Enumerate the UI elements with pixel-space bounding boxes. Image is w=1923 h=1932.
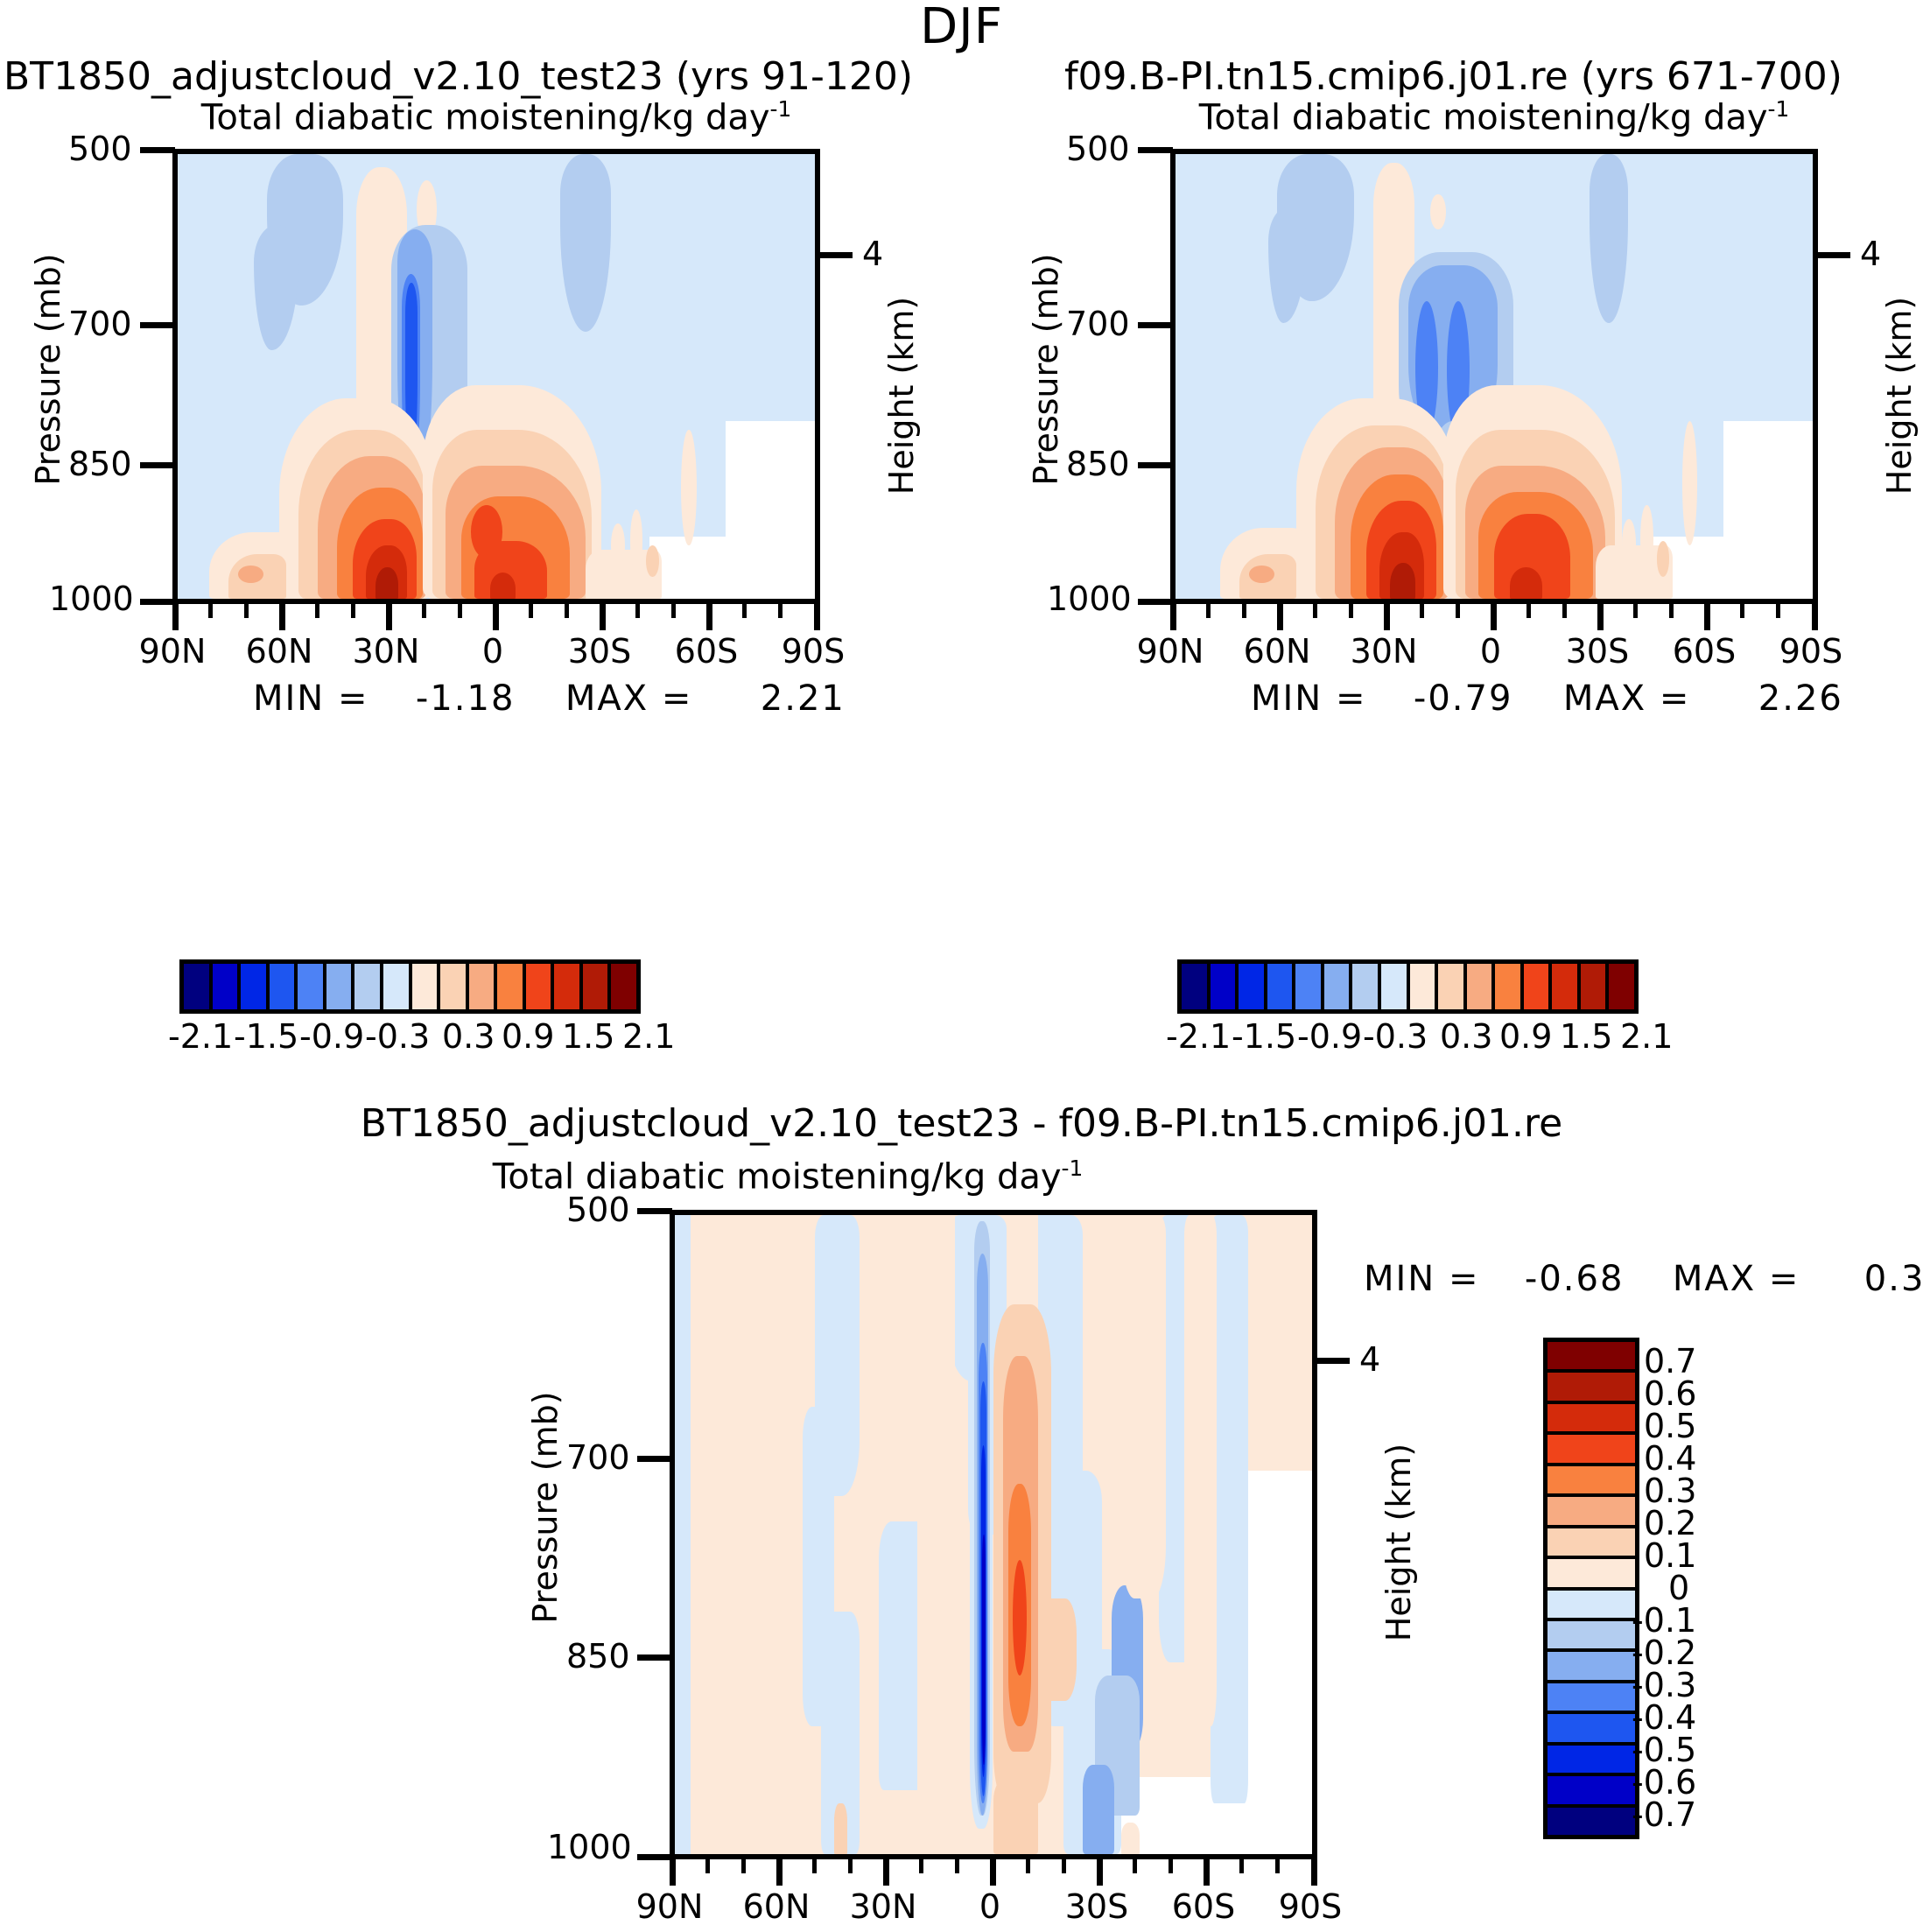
colorbar-swatch-2 bbox=[241, 964, 270, 1009]
cb-tr-t2: -0.9 bbox=[1297, 1017, 1362, 1056]
top-left-xaxis-ticks bbox=[172, 604, 820, 634]
colorbar-swatch-0 bbox=[1182, 964, 1211, 1009]
bottom-ytick-1000: 1000 bbox=[547, 1828, 632, 1866]
cb-tl-t7: 2.1 bbox=[622, 1017, 675, 1056]
colorbar-swatch-9 bbox=[1548, 1621, 1635, 1652]
bottom-minmax: MIN = -0.68 MAX = 0.32 bbox=[1364, 1259, 1923, 1299]
colorbar-swatch-10 bbox=[1467, 964, 1496, 1009]
colorbar-swatch-11 bbox=[1495, 964, 1524, 1009]
colorbar-swatch-6 bbox=[1548, 1528, 1635, 1559]
colorbar-swatch-2 bbox=[1239, 964, 1267, 1009]
top-left-ytick-500: 500 bbox=[68, 130, 132, 168]
colorbar-swatch-12 bbox=[526, 964, 555, 1009]
colorbar-swatch-6 bbox=[1352, 964, 1381, 1009]
bottom-contour-field bbox=[675, 1215, 1312, 1854]
top-right-min-label: MIN = bbox=[1251, 678, 1366, 719]
bottom-xtick-60S: 60S bbox=[1151, 1887, 1256, 1926]
units-exponent: -1 bbox=[1062, 1156, 1084, 1181]
colorbar-swatch-4 bbox=[1295, 964, 1324, 1009]
units-exponent: -1 bbox=[1768, 96, 1790, 122]
colorbar-swatch-1 bbox=[213, 964, 242, 1009]
bottom-ytick-mark-850 bbox=[637, 1654, 672, 1661]
bottom-xtick-60N: 60N bbox=[724, 1887, 829, 1926]
top-right-units-label: Total diabatic moistening/kg day-1 bbox=[1170, 96, 1818, 137]
top-right-xtick-60S: 60S bbox=[1652, 632, 1757, 671]
colorbar-swatch-11 bbox=[1548, 1683, 1635, 1714]
colorbar-swatch-6 bbox=[354, 964, 383, 1009]
bottom-xtick-0: 0 bbox=[937, 1887, 1042, 1926]
top-left-minmax: MIN = -1.18 MAX = 2.21 bbox=[253, 678, 846, 719]
figure-season-title: DJF bbox=[0, 0, 1923, 55]
top-left-units-label: Total diabatic moistening/kg day-1 bbox=[172, 96, 820, 137]
bottom-ytick-mark-1000 bbox=[637, 1854, 672, 1860]
top-right-min-value: -0.79 bbox=[1414, 678, 1513, 719]
colorbar-swatch-0 bbox=[1548, 1342, 1635, 1373]
top-left-ytick-mark-1000 bbox=[140, 599, 175, 605]
top-right-y-axis-label: Pressure (mb) bbox=[915, 350, 1177, 389]
colorbar-swatch-12 bbox=[1548, 1714, 1635, 1745]
top-right-contour-field bbox=[1176, 154, 1813, 599]
colorbar-swatch-8 bbox=[412, 964, 441, 1009]
top-right-y2-axis-label: Height (km) bbox=[1768, 376, 1923, 415]
bottom-ytick-500: 500 bbox=[566, 1191, 630, 1229]
top-right-max-value: 2.26 bbox=[1758, 678, 1843, 719]
top-left-xtick-90S: 90S bbox=[761, 632, 866, 671]
colorbar-swatch-15 bbox=[1609, 964, 1634, 1009]
top-right-ytick-mark-700 bbox=[1138, 322, 1173, 328]
cb-tr-t5: 0.9 bbox=[1499, 1017, 1552, 1056]
colorbar-swatch-5 bbox=[1548, 1497, 1635, 1528]
cb-tl-t6: 1.5 bbox=[562, 1017, 614, 1056]
colorbar-swatch-2 bbox=[1548, 1404, 1635, 1435]
top-left-xtick-60S: 60S bbox=[654, 632, 759, 671]
top-right-plot-frame bbox=[1170, 149, 1818, 604]
top-right-minmax: MIN = -0.79 MAX = 2.26 bbox=[1251, 678, 1843, 719]
bottom-max-value: 0.32 bbox=[1864, 1259, 1923, 1299]
top-left-y-axis-label: Pressure (mb) bbox=[0, 350, 179, 389]
top-right-ytick-1000: 1000 bbox=[1047, 580, 1132, 618]
top-right-ytick-mark-500 bbox=[1138, 147, 1173, 153]
colorbar-swatch-7 bbox=[1381, 964, 1410, 1009]
top-left-xtick-30S: 30S bbox=[547, 632, 652, 671]
colorbar-swatch-4 bbox=[298, 964, 326, 1009]
top-left-min-label: MIN = bbox=[253, 678, 368, 719]
top-left-plot-frame bbox=[172, 149, 820, 604]
bottom-y-axis-label: Pressure (mb) bbox=[414, 1488, 677, 1527]
top-right-ytick-mark-1000 bbox=[1138, 599, 1173, 605]
bottom-units-label: Total diabatic moistening/kg day-1 bbox=[350, 1156, 1225, 1197]
bottom-xtick-30S: 30S bbox=[1044, 1887, 1149, 1926]
top-right-xtick-90S: 90S bbox=[1758, 632, 1863, 671]
top-left-ytick-1000: 1000 bbox=[49, 580, 134, 618]
colorbar-swatch-0 bbox=[184, 964, 213, 1009]
cb-tr-t7: 2.1 bbox=[1620, 1017, 1673, 1056]
colorbar-swatch-9 bbox=[440, 964, 469, 1009]
bottom-y2tick-mark-4 bbox=[1315, 1358, 1350, 1364]
colorbar-swatch-5 bbox=[326, 964, 355, 1009]
cb-tr-t3: -0.3 bbox=[1363, 1017, 1428, 1056]
colorbar-swatch-10 bbox=[469, 964, 498, 1009]
top-right-xtick-30S: 30S bbox=[1545, 632, 1650, 671]
top-right-max-label: MAX = bbox=[1563, 678, 1691, 719]
top-right-ytick-850: 850 bbox=[1066, 445, 1130, 483]
colorbar-swatch-1 bbox=[1548, 1373, 1635, 1403]
top-left-xtick-30N: 30N bbox=[333, 632, 439, 671]
colorbar-swatch-15 bbox=[611, 964, 636, 1009]
bottom-ytick-mark-500 bbox=[637, 1208, 672, 1214]
top-left-y2tick-mark-4 bbox=[818, 252, 853, 258]
top-left-xtick-60N: 60N bbox=[227, 632, 332, 671]
bottom-ytick-mark-700 bbox=[637, 1456, 672, 1462]
colorbar-swatch-13 bbox=[554, 964, 583, 1009]
colorbar-swatch-8 bbox=[1548, 1591, 1635, 1621]
top-left-contour-field bbox=[178, 154, 815, 599]
top-right-xtick-90N: 90N bbox=[1118, 632, 1223, 671]
bottom-colorbar-ticklabels: 0.7 0.6 0.5 0.4 0.3 0.2 0.1 0 -0.1 -0.2 … bbox=[1644, 1338, 1819, 1830]
bottom-min-value: -0.68 bbox=[1525, 1259, 1625, 1299]
bottom-xtick-90N: 90N bbox=[617, 1887, 722, 1926]
colorbar-swatch-3 bbox=[270, 964, 298, 1009]
colorbar-swatch-12 bbox=[1524, 964, 1553, 1009]
bottom-plot-frame bbox=[670, 1210, 1317, 1859]
top-left-min-value: -1.18 bbox=[416, 678, 516, 719]
top-left-ytick-mark-500 bbox=[140, 147, 175, 153]
top-left-max-label: MAX = bbox=[565, 678, 693, 719]
bottom-xtick-30N: 30N bbox=[831, 1887, 936, 1926]
colorbar-swatch-4 bbox=[1548, 1466, 1635, 1497]
cb-tl-t0: -2.1 bbox=[168, 1017, 233, 1056]
top-right-xaxis-ticks bbox=[1170, 604, 1818, 634]
colorbar-swatch-13 bbox=[1548, 1746, 1635, 1776]
top-right-ytick-500: 500 bbox=[1066, 130, 1130, 168]
top-right-y2tick-4: 4 bbox=[1860, 235, 1881, 273]
cb-tr-t4: 0.3 bbox=[1440, 1017, 1492, 1056]
cb-tl-t5: 0.9 bbox=[502, 1017, 554, 1056]
top-right-xtick-30N: 30N bbox=[1331, 632, 1436, 671]
top-left-xtick-90N: 90N bbox=[120, 632, 225, 671]
top-right-colorbar[interactable] bbox=[1177, 959, 1639, 1014]
colorbar-swatch-11 bbox=[497, 964, 526, 1009]
colorbar-swatch-10 bbox=[1548, 1652, 1635, 1683]
top-left-ytick-mark-850 bbox=[140, 462, 175, 468]
bottom-min-label: MIN = bbox=[1364, 1259, 1479, 1299]
top-left-ytick-850: 850 bbox=[68, 445, 132, 483]
units-exponent: -1 bbox=[770, 96, 792, 122]
top-left-ytick-700: 700 bbox=[68, 305, 132, 343]
colorbar-swatch-3 bbox=[1548, 1435, 1635, 1465]
bottom-max-label: MAX = bbox=[1673, 1259, 1800, 1299]
colorbar-swatch-9 bbox=[1438, 964, 1467, 1009]
bottom-colorbar[interactable] bbox=[1543, 1338, 1639, 1839]
top-left-colorbar[interactable] bbox=[179, 959, 641, 1014]
colorbar-swatch-8 bbox=[1410, 964, 1439, 1009]
colorbar-swatch-1 bbox=[1211, 964, 1239, 1009]
colorbar-swatch-15 bbox=[1548, 1808, 1635, 1835]
cb-b-l14: -0.7 bbox=[1632, 1795, 1696, 1834]
top-left-ytick-mark-700 bbox=[140, 322, 175, 328]
colorbar-swatch-14 bbox=[1548, 1776, 1635, 1807]
bottom-y2tick-4: 4 bbox=[1359, 1340, 1380, 1379]
top-right-xtick-0: 0 bbox=[1438, 632, 1543, 671]
colorbar-swatch-7 bbox=[1548, 1559, 1635, 1590]
bottom-panel-title: BT1850_adjustcloud_v2.10_test23 - f09.B-… bbox=[0, 1101, 1923, 1146]
bottom-ytick-700: 700 bbox=[566, 1438, 630, 1477]
top-right-y2tick-mark-4 bbox=[1815, 252, 1850, 258]
top-right-ytick-700: 700 bbox=[1066, 305, 1130, 343]
cb-tl-t3: -0.3 bbox=[365, 1017, 430, 1056]
colorbar-swatch-14 bbox=[583, 964, 612, 1009]
top-left-xtick-0: 0 bbox=[440, 632, 545, 671]
top-left-y2tick-4: 4 bbox=[862, 235, 883, 273]
cb-tl-t1: -1.5 bbox=[234, 1017, 298, 1056]
top-right-panel-title: f09.B-PI.tn15.cmip6.j01.re (yrs 671-700) bbox=[1064, 54, 1842, 99]
bottom-y2-axis-label: Height (km) bbox=[1267, 1523, 1530, 1562]
colorbar-swatch-5 bbox=[1324, 964, 1353, 1009]
cb-tl-t2: -0.9 bbox=[299, 1017, 364, 1056]
top-right-ytick-mark-850 bbox=[1138, 462, 1173, 468]
colorbar-swatch-7 bbox=[383, 964, 412, 1009]
bottom-ytick-850: 850 bbox=[566, 1637, 630, 1676]
top-left-max-value: 2.21 bbox=[761, 678, 846, 719]
bottom-xtick-90S: 90S bbox=[1258, 1887, 1363, 1926]
top-right-xtick-60N: 60N bbox=[1225, 632, 1330, 671]
cb-tr-t1: -1.5 bbox=[1232, 1017, 1296, 1056]
colorbar-swatch-13 bbox=[1552, 964, 1581, 1009]
cb-tl-t4: 0.3 bbox=[442, 1017, 495, 1056]
colorbar-swatch-3 bbox=[1267, 964, 1296, 1009]
top-left-panel-title: BT1850_adjustcloud_v2.10_test23 (yrs 91-… bbox=[4, 54, 913, 99]
cb-tr-t6: 1.5 bbox=[1560, 1017, 1612, 1056]
colorbar-swatch-14 bbox=[1581, 964, 1610, 1009]
bottom-xaxis-ticks bbox=[670, 1859, 1317, 1889]
cb-tr-t0: -2.1 bbox=[1166, 1017, 1231, 1056]
